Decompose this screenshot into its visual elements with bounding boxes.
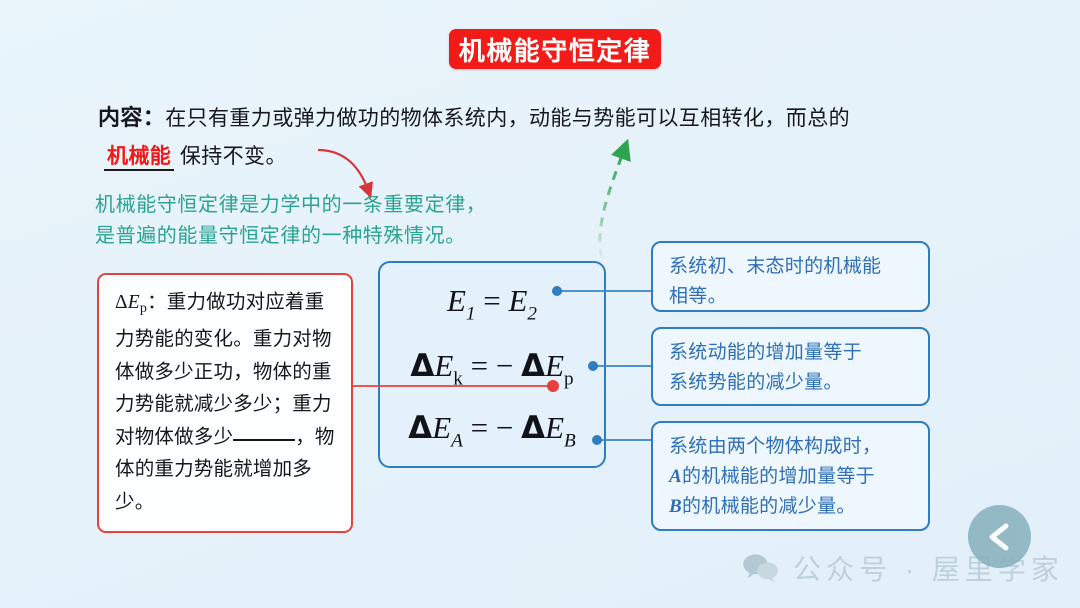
delta-ep-explanation-text: ΔEp：重力做功对应着重力势能的变化。重力对物体做多少正功，物体的重力势能就减少… xyxy=(115,287,337,519)
annotation-2-line-1: 系统动能的增加量等于 xyxy=(669,338,914,368)
formula-delta-ek-equals-minus-delta-ep: ΔEk = − ΔEp xyxy=(380,348,604,391)
energy-subscript: p xyxy=(140,300,147,316)
annotation-3-line-1: 系统由两个物体构成时， xyxy=(669,432,914,462)
formula-2-operator: = − xyxy=(471,348,514,383)
annotation-1-line-1: 系统初、末态时的机械能 xyxy=(669,252,914,282)
delta-ep-explanation-box: ΔEp：重力做功对应着重力势能的变化。重力对物体做多少正功，物体的重力势能就减少… xyxy=(97,273,353,533)
content-line-1-text: 在只有重力或弹力做功的物体系统内，动能与势能可以互相转化，而总的 xyxy=(165,106,850,130)
formula-3-lhs-delta: Δ xyxy=(408,410,432,446)
page-title-badge: 机械能守恒定律 xyxy=(449,29,661,69)
formula-2-rhs-delta: Δ xyxy=(521,348,545,384)
formula-3-rhs-delta: Δ xyxy=(521,410,545,446)
content-lead-label: 内容： xyxy=(98,105,165,130)
annotation-3-line-3: B的机械能的减少量。 xyxy=(669,492,914,522)
slide-canvas: 机械能守恒定律 内容：在只有重力或弹力做功的物体系统内，动能与势能可以互相转化，… xyxy=(0,0,1080,608)
formula-3-lhs-subscript: A xyxy=(451,431,463,452)
teal-explanatory-note: 机械能守恒定律是力学中的一条重要定律， 是普遍的能量守恒定律的一种特殊情况。 xyxy=(95,190,486,252)
formula-2-rhs-symbol: E xyxy=(545,348,564,383)
annotation-2-line-2: 系统势能的减少量。 xyxy=(669,368,914,398)
formula-delta-ea-equals-minus-delta-eb: ΔEA = − ΔEB xyxy=(380,410,604,453)
filled-blank-answer: 机械能 xyxy=(104,145,174,171)
content-line-2-text: 保持不变。 xyxy=(180,144,287,168)
formula-3-rhs-subscript: B xyxy=(564,431,576,452)
back-button[interactable] xyxy=(968,505,1031,568)
green-dashed-arrow xyxy=(600,150,624,258)
page-title: 机械能守恒定律 xyxy=(459,31,652,68)
annotation-1-line-2: 相等。 xyxy=(669,282,914,312)
formula-3-operator: = − xyxy=(471,410,514,445)
annotation-3-symbol-a: A xyxy=(669,466,682,487)
formula-2-lhs-delta: Δ xyxy=(410,348,434,384)
wechat-icon xyxy=(742,553,780,583)
formula-2-lhs-subscript: k xyxy=(453,369,463,390)
formula-2-lhs-symbol: E xyxy=(434,348,453,383)
content-line-1: 内容：在只有重力或弹力做功的物体系统内，动能与势能可以互相转化，而总的 xyxy=(98,100,850,132)
teal-note-line-1: 机械能守恒定律是力学中的一条重要定律， xyxy=(95,190,486,221)
annotation-3-symbol-b: B xyxy=(669,496,682,517)
formula-1-operator: = xyxy=(483,283,500,318)
formula-box: E1 = E2 ΔEk = − ΔEp ΔEA = − ΔEB xyxy=(378,261,606,468)
formula-3-lhs-symbol: E xyxy=(432,410,451,445)
annotation-3-line-2: A的机械能的增加量等于 xyxy=(669,462,914,492)
formula-2-rhs-subscript: p xyxy=(564,369,574,390)
fill-in-blank[interactable] xyxy=(233,439,295,441)
content-line-2: 机械能 保持不变。 xyxy=(104,140,287,170)
formula-1-lhs-subscript: 1 xyxy=(466,304,476,325)
teal-note-line-2: 是普遍的能量守恒定律的一种特殊情况。 xyxy=(95,221,486,252)
chevron-left-icon xyxy=(985,521,1015,553)
annotation-3-line-3-text: 的机械能的减少量。 xyxy=(682,496,856,517)
formula-e1-equals-e2: E1 = E2 xyxy=(380,283,604,326)
annotation-box-two-body-system: 系统由两个物体构成时， A的机械能的增加量等于 B的机械能的减少量。 xyxy=(651,421,930,531)
delta-ep-body-text: ：重力做功对应着重力势能的变化。重力对物体做多少正功，物体的重力势能就减少多少；… xyxy=(115,292,332,448)
formula-1-lhs-symbol: E xyxy=(447,283,466,318)
annotation-box-initial-final-energy: 系统初、末态时的机械能 相等。 xyxy=(651,241,930,312)
annotation-box-kinetic-potential: 系统动能的增加量等于 系统势能的减少量。 xyxy=(651,327,930,406)
formula-1-rhs-symbol: E xyxy=(508,283,527,318)
formula-1-rhs-subscript: 2 xyxy=(527,304,537,325)
red-curved-arrow xyxy=(318,150,368,190)
formula-3-rhs-symbol: E xyxy=(545,410,564,445)
delta-symbol: Δ xyxy=(115,292,128,313)
energy-symbol: E xyxy=(128,292,140,313)
annotation-3-line-2-text: 的机械能的增加量等于 xyxy=(682,466,875,487)
